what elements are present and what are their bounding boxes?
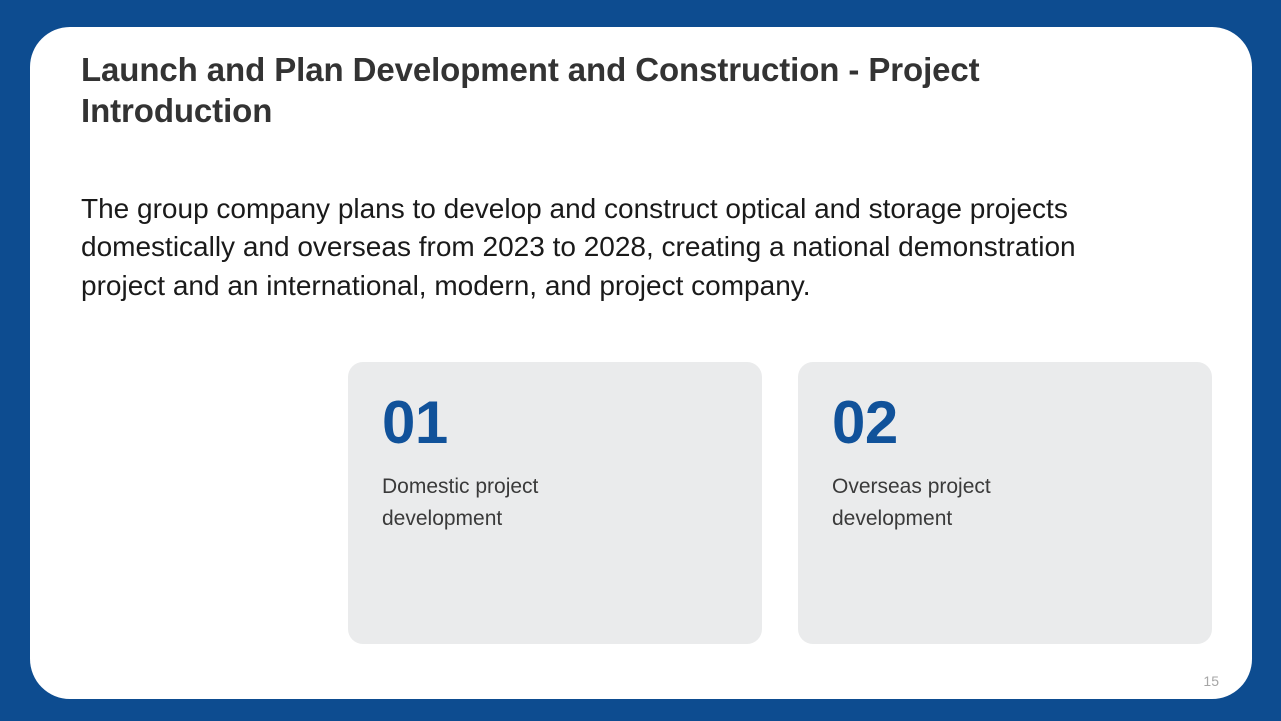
slide-body-paragraph: The group company plans to develop and c…: [81, 190, 1156, 305]
card-number-label: 02: [832, 392, 1178, 453]
page-number: 15: [1203, 673, 1219, 689]
info-card-01[interactable]: 01 Domestic project development: [348, 362, 762, 644]
card-number-label: 01: [382, 392, 728, 453]
info-card-02[interactable]: 02 Overseas project development: [798, 362, 1212, 644]
page-title: Launch and Plan Development and Construc…: [81, 50, 1141, 131]
slide-content-canvas: Launch and Plan Development and Construc…: [30, 27, 1252, 699]
card-description-label: Overseas project development: [832, 471, 1062, 534]
card-description-label: Domestic project development: [382, 471, 612, 534]
slide-root: Launch and Plan Development and Construc…: [0, 0, 1281, 721]
info-cards-row: 01 Domestic project development 02 Overs…: [348, 362, 1212, 644]
